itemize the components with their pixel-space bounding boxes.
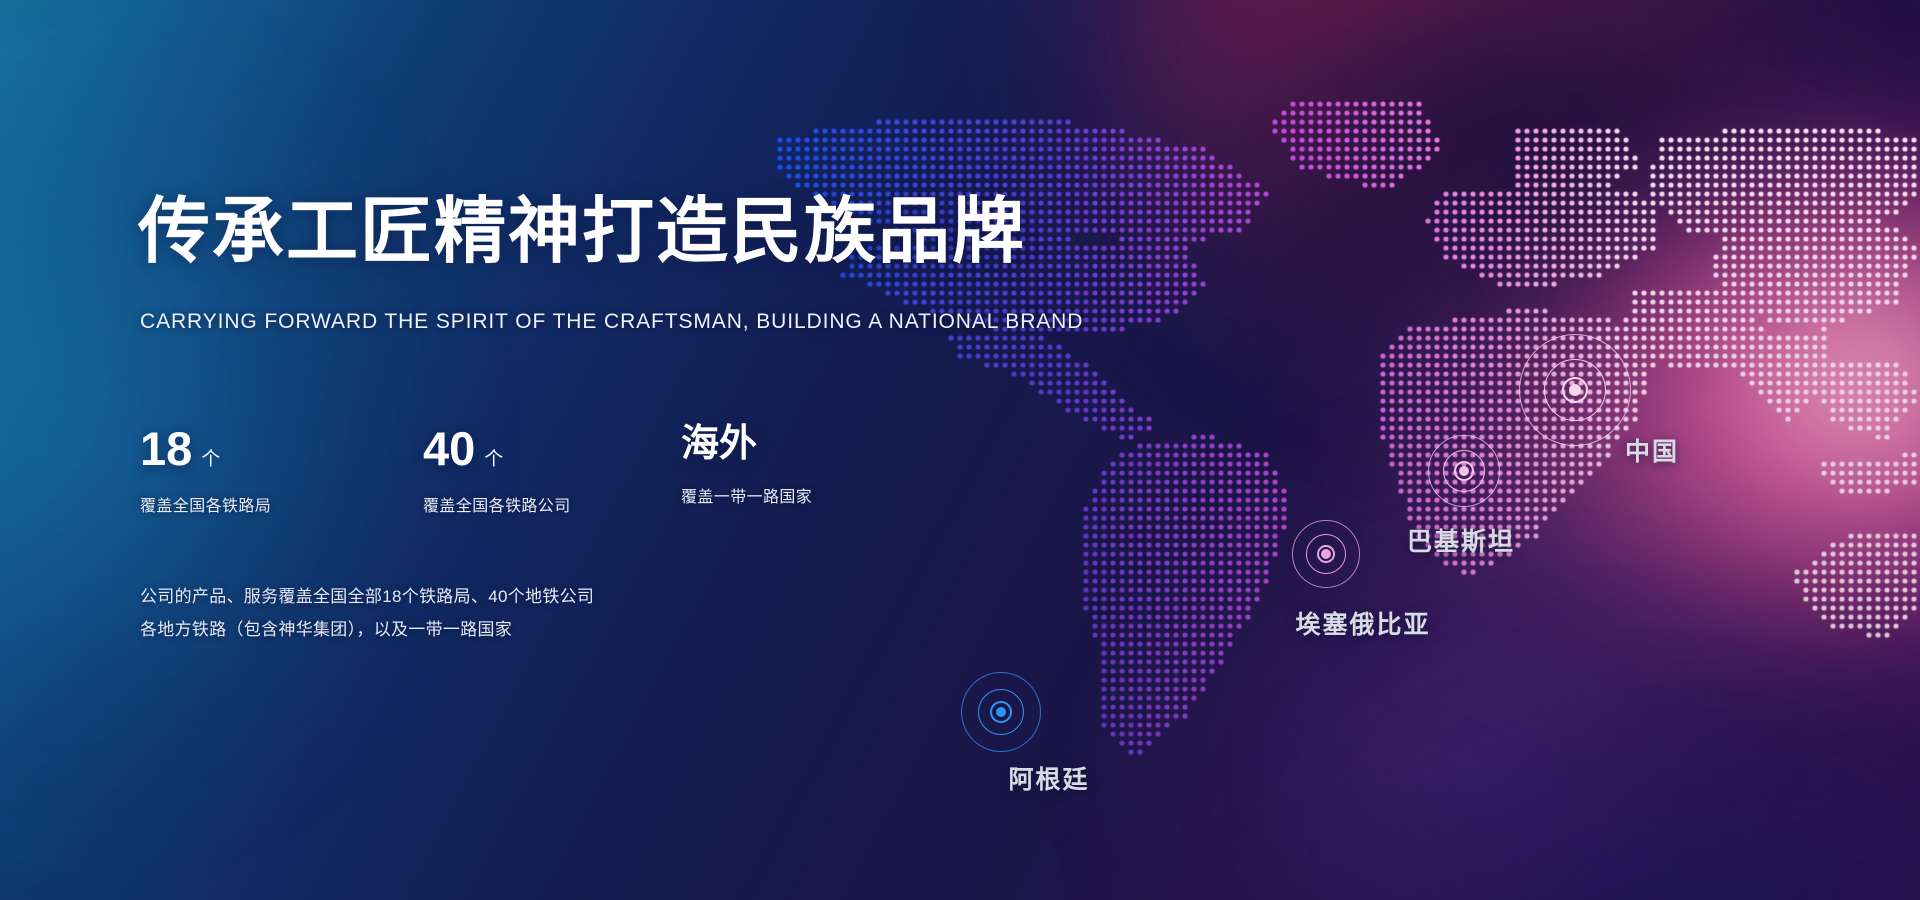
marker-center-dot bbox=[1321, 549, 1331, 559]
page-subtitle: CARRYING FORWARD THE SPIRIT OF THE CRAFT… bbox=[140, 310, 1083, 334]
banner-stage: 中国巴基斯坦埃塞俄比亚阿根廷 传承工匠精神打造民族品牌 CARRYING FOR… bbox=[0, 0, 1920, 900]
map-marker-label-china: 中国 bbox=[1625, 432, 1679, 468]
stat-label: 覆盖一带一路国家 bbox=[681, 483, 921, 507]
stat-unit: 个 bbox=[484, 444, 503, 471]
stats-row: 18个覆盖全国各铁路局40个覆盖全国各铁路公司海外覆盖一带一路国家 bbox=[140, 425, 921, 516]
stat-label: 覆盖全国各铁路公司 bbox=[423, 492, 681, 516]
map-marker-label-pakistan: 巴基斯坦 bbox=[1407, 522, 1515, 558]
stat-unit: 个 bbox=[201, 444, 220, 471]
stat-value-row: 40个 bbox=[423, 425, 681, 472]
map-marker-label-argentina: 阿根廷 bbox=[1008, 760, 1089, 796]
map-marker-label-ethiopia: 埃塞俄比亚 bbox=[1295, 605, 1430, 641]
marker-center-dot bbox=[1569, 384, 1581, 396]
stat-item-2: 40个覆盖全国各铁路公司 bbox=[423, 425, 681, 516]
stat-value-row: 18个 bbox=[140, 425, 423, 472]
stat-item-1: 18个覆盖全国各铁路局 bbox=[140, 425, 423, 516]
stat-label: 覆盖全国各铁路局 bbox=[140, 492, 423, 516]
description-line-2: 各地方铁路（包含神华集团），以及一带一路国家 bbox=[140, 613, 594, 646]
page-title: 传承工匠精神打造民族品牌 bbox=[138, 196, 1026, 268]
content-block: 传承工匠精神打造民族品牌 CARRYING FORWARD THE SPIRIT… bbox=[0, 0, 1000, 900]
stat-value: 海外 bbox=[681, 425, 757, 463]
stat-item-3: 海外覆盖一带一路国家 bbox=[681, 425, 921, 507]
description-line-1: 公司的产品、服务覆盖全国全部18个铁路局、40个地铁公司 bbox=[140, 580, 594, 613]
stat-value-row: 海外 bbox=[681, 425, 921, 463]
description-paragraph: 公司的产品、服务覆盖全国全部18个铁路局、40个地铁公司 各地方铁路（包含神华集… bbox=[140, 580, 594, 646]
marker-center-dot bbox=[1459, 466, 1469, 476]
stat-value: 18 bbox=[140, 425, 192, 472]
stat-value: 40 bbox=[423, 425, 475, 472]
